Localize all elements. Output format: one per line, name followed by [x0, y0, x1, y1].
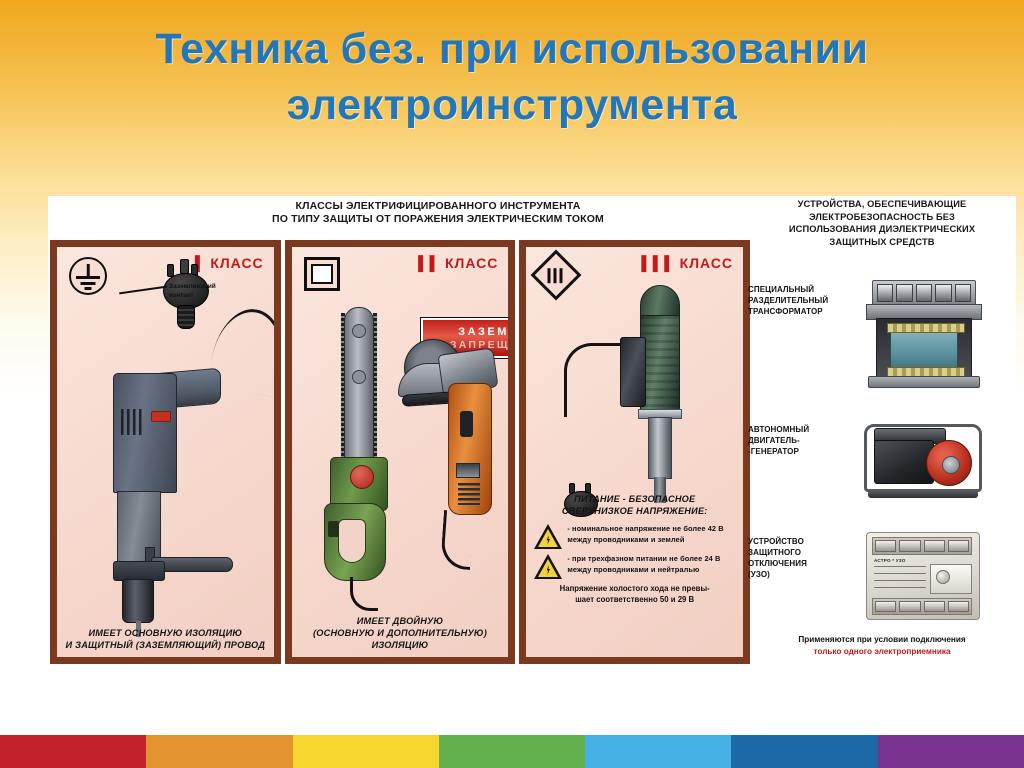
- class-2-caption: ИМЕЕТ ДВОЙНУЮ (ОСНОВНУЮ И ДОПОЛНИТЕЛЬНУЮ…: [296, 615, 505, 651]
- class-3-text-block: ПИТАНИЕ - БЕЗОПАСНОЕ СВЕРХНИЗКОЕ НАПРЯЖЕ…: [532, 493, 737, 606]
- device-label-rcd-line2: ЗАЩИТНОГО: [748, 547, 860, 558]
- safety-poster: КЛАССЫ ЭЛЕКТРИФИЦИРОВАННОГО ИНСТРУМЕНТА …: [48, 196, 1016, 672]
- footer-color-block-red: [0, 735, 146, 768]
- device-label-generator-line3: -ГЕНЕРАТОР: [748, 446, 860, 457]
- no-grounding-sign-line1: ЗАЗЕМЛЯТЬ: [458, 326, 515, 338]
- device-art-transformer: [860, 280, 1016, 390]
- class-1-caption-line1: ИМЕЕТ ОСНОВНУЮ ИЗОЛЯЦИЮ: [61, 627, 270, 639]
- poster-header-right-line1: УСТРОЙСТВА, ОБЕСПЕЧИВАЮЩИЕ: [748, 198, 1016, 211]
- poster-header-right: УСТРОЙСТВА, ОБЕСПЕЧИВАЮЩИЕ ЭЛЕКТРОБЕЗОПА…: [748, 198, 1016, 248]
- devices-note: Применяются при условии подключения толь…: [748, 634, 1016, 658]
- class-1-caption: ИМЕЕТ ОСНОВНУЮ ИЗОЛЯЦИЮ И ЗАЩИТНЫЙ (ЗАЗЕ…: [61, 627, 270, 651]
- class-2-caption-line3: ИЗОЛЯЦИЮ: [296, 639, 505, 651]
- low-voltage-screwdriver-illustration: [622, 285, 702, 515]
- device-row-generator: АВТОНОМНЫЙ ДВИГАТЕЛЬ- -ГЕНЕРАТОР: [748, 420, 1016, 506]
- poster-header-left: КЛАССЫ ЭЛЕКТРИФИЦИРОВАННОГО ИНСТРУМЕНТА …: [158, 200, 718, 226]
- poster-header-right-line3: ИСПОЛЬЗОВАНИЯ ДИЭЛЕКТРИЧЕСКИХ: [748, 223, 1016, 236]
- class-3-bars: ▌▌▌: [641, 255, 675, 271]
- class-3-label: ▌▌▌КЛАСС: [641, 255, 733, 271]
- double-insulation-icon: [304, 257, 340, 291]
- class-2-caption-line2: (ОСНОВНУЮ И ДОПОЛНИТЕЛЬНУЮ): [296, 627, 505, 639]
- class-panels: ▌КЛАСС Заземляющий контакт: [50, 240, 750, 664]
- device-row-transformer: СПЕЦИАЛЬНЫЙ РАЗДЕЛИТЕЛЬНЫЙ ТРАНСФОРМАТОР: [748, 280, 1016, 390]
- device-art-generator: [860, 420, 1016, 506]
- device-label-transformer: СПЕЦИАЛЬНЫЙ РАЗДЕЛИТЕЛЬНЫЙ ТРАНСФОРМАТОР: [748, 280, 860, 390]
- device-label-generator-line1: АВТОНОМНЫЙ: [748, 424, 860, 435]
- class-2-bars: ▌▌: [418, 255, 441, 271]
- footer-color-block-green: [439, 735, 585, 768]
- class-2-panel: ▌▌КЛАСС ЗАЗЕМЛЯТЬ ЗАПРЕЩАЕТСЯ: [285, 240, 516, 664]
- class-3-footer-line2: шает соответственно 50 и 29 В: [532, 595, 737, 606]
- angle-grinder-illustration: [396, 339, 508, 599]
- footer-color-block-orange: [146, 735, 292, 768]
- poster-header-left-line2: ПО ТИПУ ЗАЩИТЫ ОТ ПОРАЖЕНИЯ ЭЛЕКТРИЧЕСКИ…: [158, 213, 718, 226]
- class-2-label: ▌▌КЛАСС: [418, 255, 498, 271]
- device-label-rcd-line1: УСТРОЙСТВО: [748, 536, 860, 547]
- footer-color-block-dark-blue: [731, 735, 877, 768]
- class-3-bullet-1-row: - номинальное напряжение не более 42 В м…: [532, 524, 737, 549]
- device-label-generator-line2: ДВИГАТЕЛЬ-: [748, 435, 860, 446]
- footer-color-block-light-blue: [585, 735, 731, 768]
- device-art-rcd: АСТРО * УЗО: [860, 532, 1016, 624]
- device-label-generator: АВТОНОМНЫЙ ДВИГАТЕЛЬ- -ГЕНЕРАТОР: [748, 420, 860, 506]
- electric-hazard-warning-icon: [534, 524, 562, 549]
- poster-header-right-line2: ЭЛЕКТРОБЕЗОПАСНОСТЬ БЕЗ: [748, 211, 1016, 224]
- protective-earth-icon: [69, 257, 107, 295]
- title-line-2: электроинструмента: [0, 78, 1024, 134]
- class-3-bullet-1: - номинальное напряжение не более 42 В м…: [567, 524, 737, 545]
- protective-devices-column: СПЕЦИАЛЬНЫЙ РАЗДЕЛИТЕЛЬНЫЙ ТРАНСФОРМАТОР…: [748, 242, 1016, 666]
- class-1-caption-line2: И ЗАЩИТНЫЙ (ЗАЗЕМЛЯЮЩИЙ) ПРОВОД: [61, 639, 270, 651]
- isolating-transformer-illustration: [866, 280, 986, 390]
- device-label-rcd-line3: ОТКЛЮЧЕНИЯ: [748, 558, 860, 569]
- device-label-transformer-line1: СПЕЦИАЛЬНЫЙ: [748, 284, 860, 295]
- class-1-panel: ▌КЛАСС Заземляющий контакт: [50, 240, 281, 664]
- device-row-rcd: УСТРОЙСТВО ЗАЩИТНОГО ОТКЛЮЧЕНИЯ (УЗО) АС…: [748, 532, 1016, 624]
- class-3-title-line1: ПИТАНИЕ - БЕЗОПАСНОЕ: [532, 493, 737, 505]
- device-label-rcd: УСТРОЙСТВО ЗАЩИТНОГО ОТКЛЮЧЕНИЯ (УЗО): [748, 532, 860, 624]
- class-3-title-line2: СВЕРХНИЗКОЕ НАПРЯЖЕНИЕ:: [532, 505, 737, 517]
- class-2-text: КЛАСС: [445, 255, 498, 271]
- device-label-transformer-line3: ТРАНСФОРМАТОР: [748, 306, 860, 317]
- title-line-1: Техника без. при использовании: [0, 22, 1024, 78]
- class-3-bullet-2-row: - при трехфазном питании не более 24 В м…: [532, 554, 737, 579]
- class-2-caption-line1: ИМЕЕТ ДВОЙНУЮ: [296, 615, 505, 627]
- class-3-title: ПИТАНИЕ - БЕЗОПАСНОЕ СВЕРХНИЗКОЕ НАПРЯЖЕ…: [532, 493, 737, 518]
- rcd-brand-text: АСТРО * УЗО: [874, 558, 906, 563]
- footer-color-block-purple: [878, 735, 1024, 768]
- plug-note-line2: контакт: [169, 292, 255, 301]
- electric-drill-illustration: [95, 365, 235, 625]
- class-3-text: КЛАСС: [680, 255, 733, 271]
- engine-generator-illustration: [862, 420, 988, 506]
- devices-note-line1: Применяются при условии подключения: [748, 634, 1016, 646]
- footer-color-bar: [0, 735, 1024, 768]
- residual-current-device-illustration: АСТРО * УЗО: [866, 532, 984, 624]
- device-label-rcd-line4: (УЗО): [748, 569, 860, 580]
- electric-hazard-warning-icon: [534, 554, 562, 579]
- devices-note-line2: только одного электроприемника: [748, 646, 1016, 658]
- page-title: Техника без. при использовании электроин…: [0, 22, 1024, 134]
- class-3-bullet-2: - при трехфазном питании не более 24 В м…: [567, 554, 737, 575]
- device-label-transformer-line2: РАЗДЕЛИТЕЛЬНЫЙ: [748, 295, 860, 306]
- footer-color-block-yellow: [293, 735, 439, 768]
- plug-note: Заземляющий контакт: [169, 283, 255, 301]
- plug-note-line1: Заземляющий: [169, 283, 255, 292]
- class-3-panel: ▌▌▌КЛАСС ПИТАНИЕ - БЕЗОПАСНОЕ СВЕРХНИЗКО…: [519, 240, 750, 664]
- poster-header-left-line1: КЛАССЫ ЭЛЕКТРИФИЦИРОВАННОГО ИНСТРУМЕНТА: [158, 200, 718, 213]
- class-3-footer: Напряжение холостого хода не превы- шает…: [532, 584, 737, 606]
- class-3-footer-line1: Напряжение холостого хода не превы-: [532, 584, 737, 595]
